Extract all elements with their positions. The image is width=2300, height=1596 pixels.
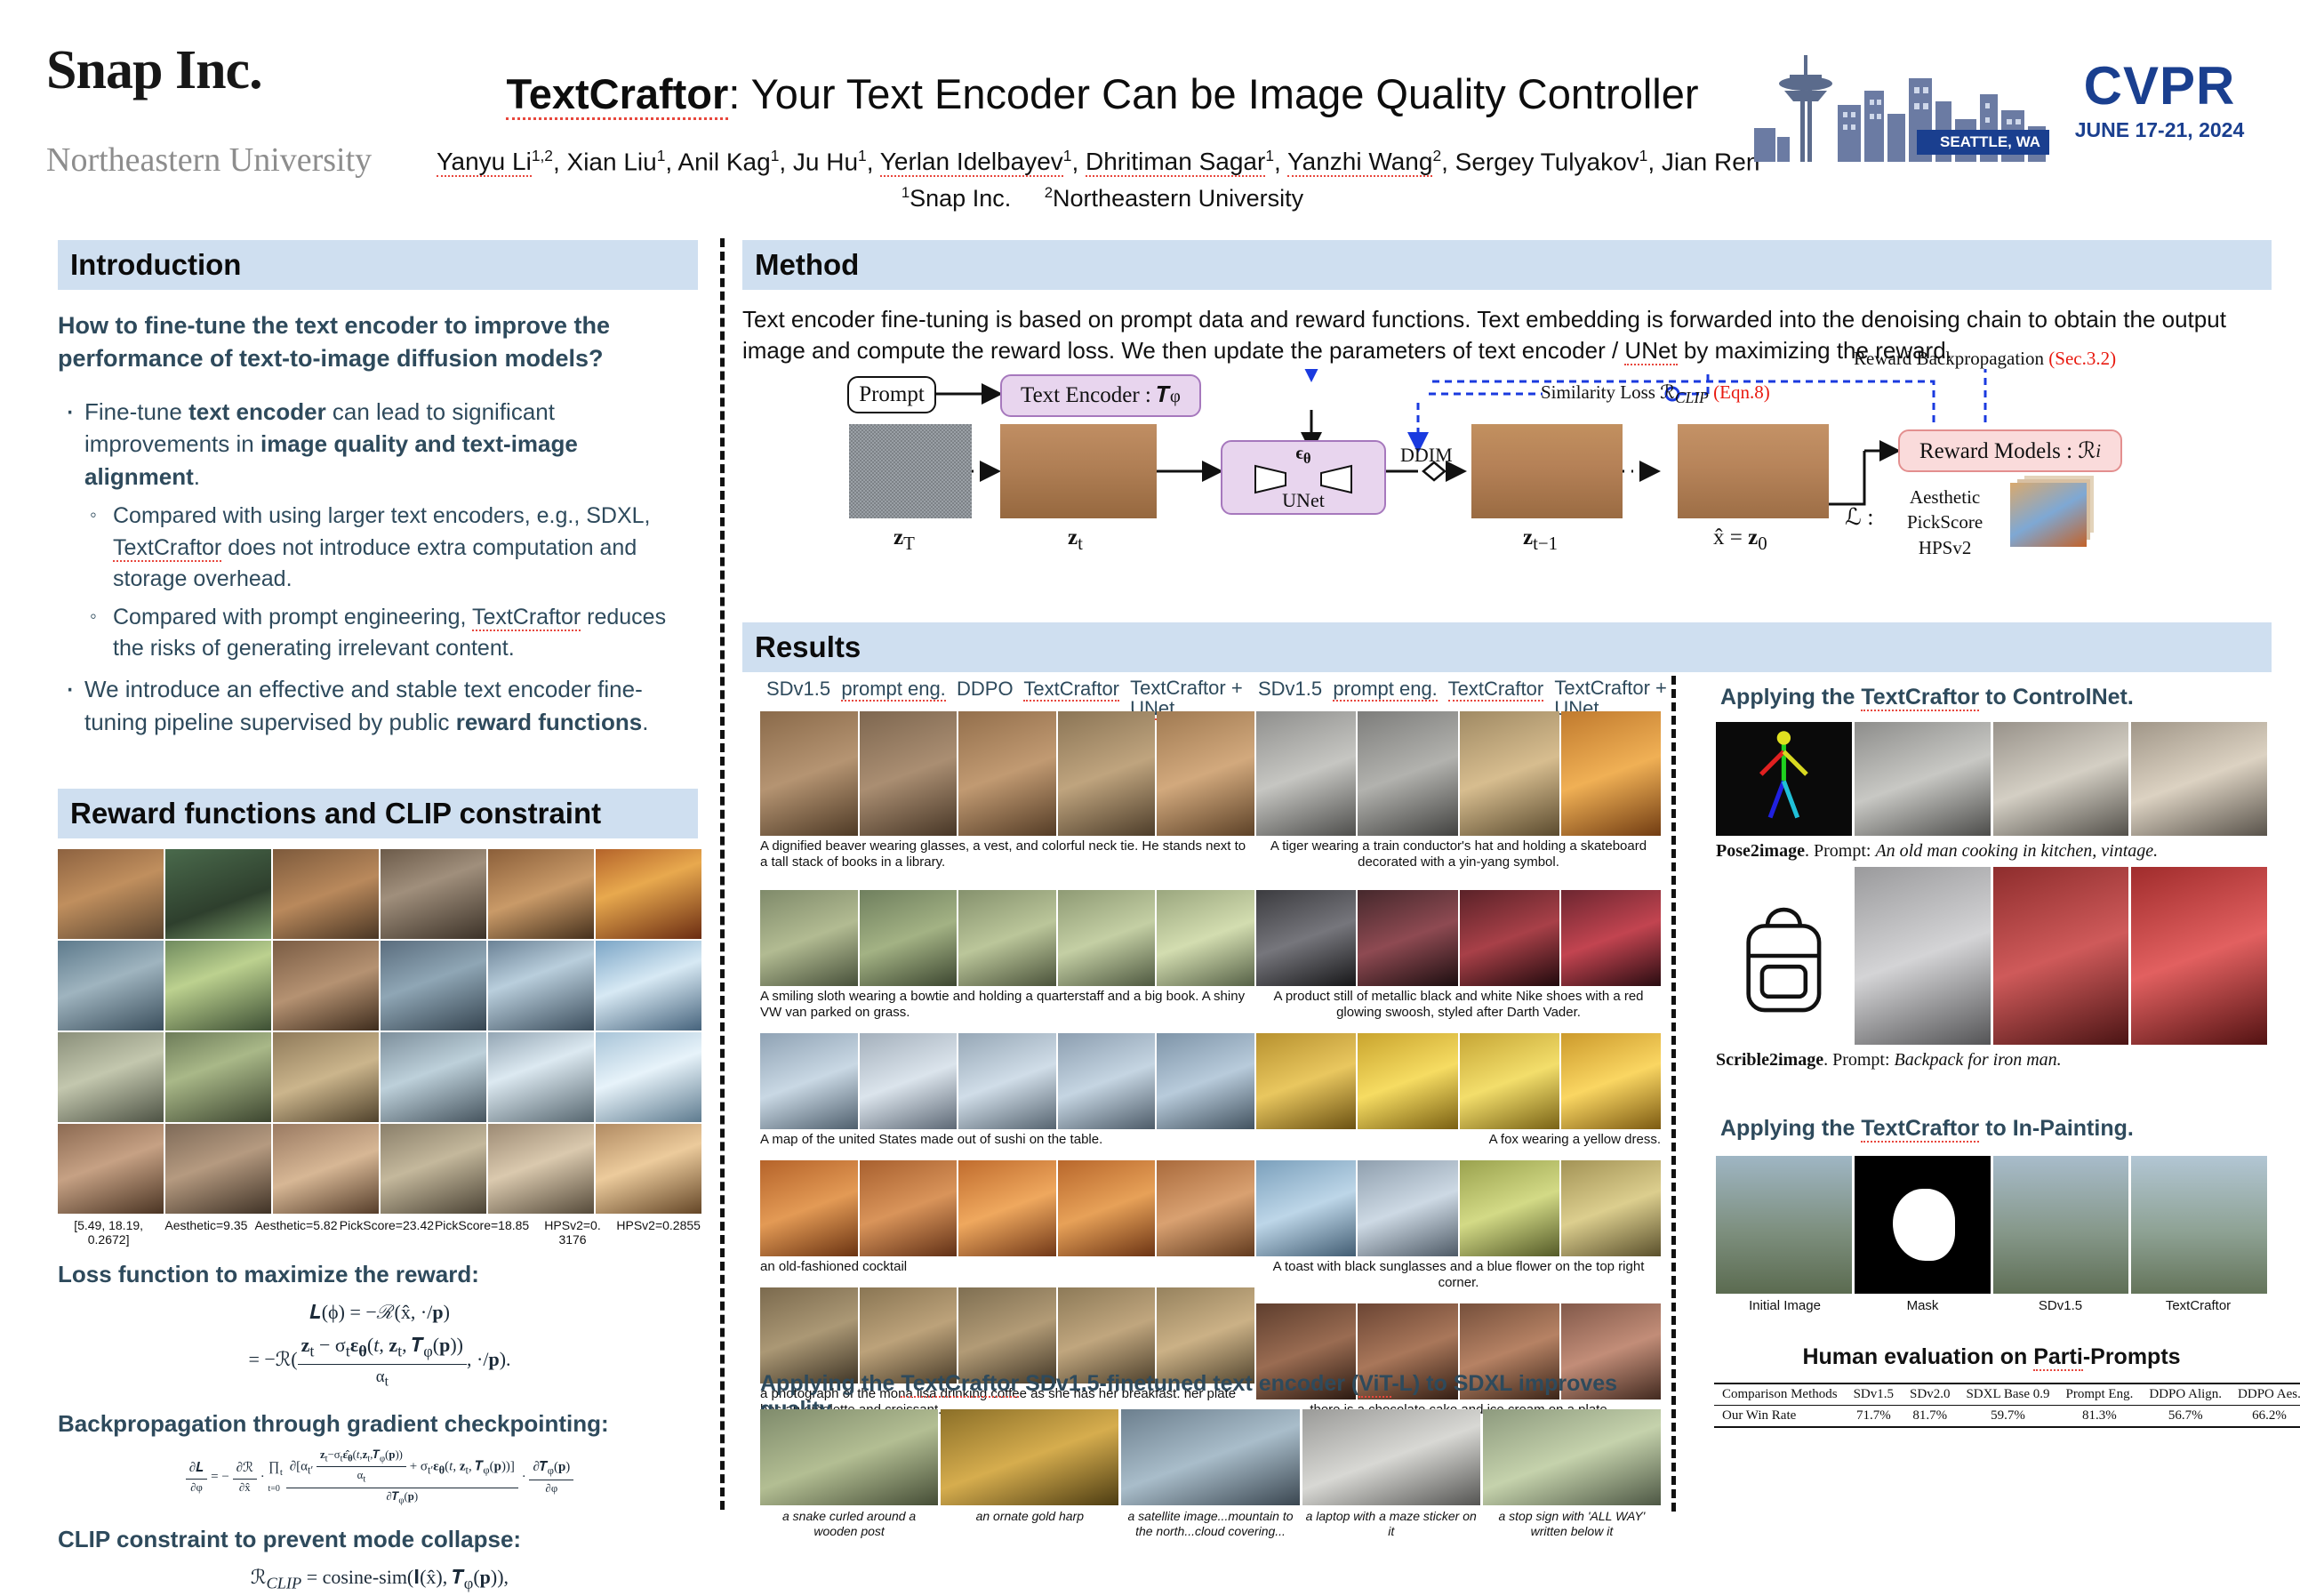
result-image: [1157, 711, 1254, 836]
sdxl-image: [1121, 1409, 1299, 1505]
grid-image: [58, 1032, 164, 1122]
controlnet-apply-heading: Applying the TextCraftor to ControlNet.: [1720, 685, 2254, 710]
th-comparison-methods: Comparison Methods: [1714, 1383, 1846, 1406]
col-prompt-eng-r: prompt eng.: [1333, 678, 1437, 702]
result-image: [1256, 1160, 1356, 1256]
inpaint-mask-image: [1855, 1156, 1991, 1294]
score-label: Aesthetic=9.35: [159, 1218, 252, 1247]
backpack-sketch-icon: [1716, 867, 1852, 1045]
result-image: [1358, 711, 1457, 836]
backprop-heading: Backpropagation through gradient checkpo…: [58, 1410, 701, 1438]
reward-hpsv2: HPSv2: [1907, 535, 1983, 560]
grid-image: [381, 849, 486, 939]
scribble2image-label: Scrible2image. Prompt: Backpack for iron…: [1716, 1050, 2267, 1071]
grid-image: [58, 1124, 164, 1214]
grid-image: [596, 1124, 701, 1214]
cvpr-logo-text: CVPR JUNE 17-21, 2024: [2053, 55, 2266, 142]
result-image: [760, 1287, 858, 1383]
result-image: [958, 1287, 1056, 1383]
grid-image: [596, 1032, 701, 1122]
result-row: [1256, 1160, 1661, 1256]
pose-result-image: [1993, 722, 2129, 836]
denoised-image-1: [1471, 424, 1623, 518]
inpaint-label: Mask: [1854, 1298, 1991, 1313]
ddim-label: DDIM: [1400, 444, 1453, 467]
td-value: 66.2%: [2230, 1406, 2300, 1428]
unet-label: UNet: [1282, 489, 1325, 512]
sdxl-caption: a stop sign with 'ALL WAY' written below…: [1483, 1509, 1661, 1539]
divider-left: [720, 238, 725, 1510]
pose2image-name: Pose2image: [1716, 841, 1805, 861]
result-image: [1358, 1160, 1457, 1256]
th-sdv20: SDv2.0: [1902, 1383, 1958, 1406]
sdxl-caption: a snake curled around a wooden post: [760, 1509, 938, 1539]
pose-skeleton-icon: [1716, 722, 1852, 836]
title-highlight: TextCraftor: [506, 70, 728, 120]
result-image: [1058, 890, 1156, 986]
result-caption: A smiling sloth wearing a bowtie and hol…: [760, 989, 1254, 1021]
latent-zT-label: zT: [894, 525, 915, 555]
pose-skeleton-image: [1716, 722, 1852, 836]
td-value: 81.7%: [1902, 1406, 1958, 1428]
grid-image: [381, 1032, 486, 1122]
sdxl-caption: an ornate gold harp: [941, 1509, 1118, 1539]
td-row-label: Our Win Rate: [1714, 1406, 1846, 1428]
eqn8-ref: (Eqn.8): [1713, 381, 1770, 403]
td-value: 56.7%: [2141, 1406, 2230, 1428]
author-list: Yanyu Li1,2, Xian Liu1, Anil Kag1, Ju Hu…: [382, 147, 1823, 176]
grid-image: [381, 1124, 486, 1214]
result-image: [1058, 1287, 1156, 1383]
score-label: PickScore=23.42: [339, 1218, 434, 1247]
score-label: Aesthetic=5.82: [253, 1218, 340, 1247]
noise-latent-image: [849, 424, 972, 518]
inpainting-labels: Initial Image Mask SDv1.5 TextCraftor: [1716, 1298, 2267, 1313]
sdxl-image: [1483, 1409, 1661, 1505]
td-value: 81.3%: [2058, 1406, 2142, 1428]
grid-image: [488, 1032, 594, 1122]
sub-bullet-item: Compared with prompt engineering, TextCr…: [84, 602, 698, 665]
score-label: HPSv2=0. 3176: [530, 1218, 616, 1247]
latent-zt-label: zt: [1068, 525, 1083, 555]
results-header: Results: [742, 622, 2272, 672]
result-image: [1058, 1033, 1156, 1129]
col-textcraftor: TextCraftor: [1023, 678, 1119, 702]
cvpr-name: CVPR: [2053, 55, 2266, 116]
result-row: [760, 1287, 1254, 1383]
grid-image: [273, 1124, 379, 1214]
inpaint-label: Initial Image: [1716, 1298, 1854, 1313]
result-image: [958, 1033, 1056, 1129]
grid-image: [58, 941, 164, 1031]
xhat-label: x̂ = z0: [1713, 525, 1767, 555]
result-caption: A dignified beaver wearing glasses, a ve…: [760, 838, 1254, 870]
score-label: PickScore=18.85: [435, 1218, 530, 1247]
sdxl-caption: a laptop with a maze sticker on it: [1302, 1509, 1480, 1539]
result-image: [1157, 890, 1254, 986]
result-image: [760, 890, 858, 986]
th-ddpo-align: DDPO Align.: [2141, 1383, 2230, 1406]
th-sdxl-base: SDXL Base 0.9: [1958, 1383, 2057, 1406]
grid-image: [273, 849, 379, 939]
sdxl-image: [760, 1409, 938, 1505]
result-caption: an old-fashioned cocktail: [760, 1259, 1254, 1275]
inpainting-apply-heading: Applying the TextCraftor to In-Painting.: [1720, 1116, 2254, 1142]
method-header: Method: [742, 240, 2272, 290]
inpaint-textcraftor-image: [2131, 1156, 2267, 1294]
result-image: [1256, 711, 1356, 836]
result-row: [760, 1033, 1254, 1129]
result-image: [860, 711, 958, 836]
td-value: 59.7%: [1958, 1406, 2057, 1428]
bullet-item: We introduce an effective and stable tex…: [58, 673, 698, 739]
reward-models-box: Reward Models : ℛi: [1898, 429, 2122, 472]
grid-image: [596, 941, 701, 1031]
introduction-header: Introduction: [58, 240, 698, 290]
result-row: [760, 711, 1254, 836]
grid-image: [273, 1032, 379, 1122]
result-image: [1256, 890, 1356, 986]
poster-root: Snap Inc. Northeastern University TextCr…: [0, 0, 2300, 1534]
poster-header: Snap Inc. Northeastern University TextCr…: [0, 0, 2300, 224]
table-head: Comparison Methods SDv1.5 SDv2.0 SDXL Ba…: [1714, 1383, 2300, 1406]
col-textcraftor-r: TextCraftor: [1448, 678, 1544, 702]
grid-image: [165, 941, 271, 1031]
final-image: [1678, 424, 1829, 518]
inpaint-label: TextCraftor: [2129, 1298, 2267, 1313]
result-caption: A tiger wearing a train conductor's hat …: [1256, 838, 1661, 870]
grid-image: [165, 1032, 271, 1122]
result-caption: A toast with black sunglasses and a blue…: [1256, 1259, 1661, 1291]
inpaint-label: SDv1.5: [1991, 1298, 2129, 1313]
sec32-ref: (Sec.3.2): [2048, 348, 2116, 369]
bullet-item: Fine-tune text encoder can lead to signi…: [58, 396, 698, 665]
col-sdv15: SDv1.5: [766, 678, 830, 700]
clip-heading: CLIP constraint to prevent mode collapse…: [58, 1526, 701, 1553]
result-image: [760, 711, 858, 836]
inpaint-sdv15-image: [1993, 1156, 2129, 1294]
sdxl-image: [941, 1409, 1118, 1505]
loss-equation-expanded: = −ℛ(zt − σtεθ(t, zt, 𝑻φ(p))αt, ·/p).: [58, 1330, 701, 1392]
result-image: [760, 1033, 858, 1129]
reward-section-header: Reward functions and CLIP constraint: [58, 789, 698, 838]
affiliations: 1Snap Inc. 2Northeastern University: [382, 184, 1823, 213]
cvpr-dates: JUNE 17-21, 2024: [2053, 118, 2266, 142]
grid-image: [488, 941, 594, 1031]
similarity-loss-label: Similarity Loss ℛCLIP (Eqn.8): [1541, 381, 1770, 407]
col-prompt-eng: prompt eng.: [841, 678, 945, 702]
results-right-grid: A tiger wearing a train conductor's hat …: [1256, 711, 1661, 1418]
method-diagram: Prompt Text Encoder : 𝑻φ zT zt ϵθ UNet D…: [742, 369, 2272, 627]
result-image: [958, 1160, 1056, 1256]
mask-shape: [1893, 1189, 1955, 1261]
clip-equation: ℛCLIP = cosine-sim(𝐈(x̂), 𝑻φ(p)),: [58, 1562, 701, 1596]
latent-zt-1-label: zt−1: [1523, 525, 1558, 555]
loss-symbol-label: ℒ :: [1845, 504, 1873, 531]
grid-image: [273, 941, 379, 1031]
result-image: [860, 1160, 958, 1256]
pose2image-prompt: Prompt: An old man cooking in kitchen, v…: [1814, 841, 2158, 861]
sdxl-caption: a satellite image...mountain to the nort…: [1121, 1509, 1299, 1539]
left-column: Introduction How to fine-tune the text e…: [58, 240, 698, 838]
th-ddpo-aes: DDPO Aes.: [2230, 1383, 2300, 1406]
result-image: [1561, 1033, 1661, 1129]
scribble2image-prompt: Prompt: Backpack for iron man.: [1832, 1050, 2062, 1070]
result-row: [1256, 890, 1661, 986]
result-image: [1157, 1287, 1254, 1383]
northeastern-logo: Northeastern University: [46, 140, 372, 180]
table-body: Our Win Rate 71.7% 81.7% 59.7% 81.3% 56.…: [1714, 1406, 2300, 1428]
cvpr-location: SEATTLE, WA: [1917, 130, 2049, 155]
result-image: [958, 711, 1056, 836]
introduction-bullets: Fine-tune text encoder can lead to signi…: [58, 396, 698, 739]
page-title: TextCraftor: Your Text Encoder Can be Im…: [382, 69, 1823, 118]
loss-equation: 𝑳(ϕ) = −ℛ(x̂, ·/p): [58, 1297, 701, 1327]
td-value: 71.7%: [1846, 1406, 1902, 1428]
result-image: [1460, 1160, 1559, 1256]
reward-image-grid: [58, 849, 701, 1214]
controlnet-scribble-row: [1716, 867, 2267, 1045]
sdxl-captions: a snake curled around a wooden post an o…: [760, 1509, 1661, 1539]
grid-image: [596, 849, 701, 939]
result-row: [1256, 711, 1661, 836]
grid-image: [381, 941, 486, 1031]
introduction-question: How to fine-tune the text encoder to imp…: [58, 309, 698, 376]
sub-bullet-item: Compared with using larger text encoders…: [84, 501, 698, 596]
result-image: [1058, 711, 1156, 836]
reward-pickscore: PickScore: [1907, 509, 1983, 534]
score-label: [5.49, 18.19, 0.2672]: [58, 1218, 159, 1247]
human-eval-table: Comparison Methods SDv1.5 SDv2.0 SDXL Ba…: [1714, 1383, 2300, 1428]
scribble-result-image: [1993, 867, 2129, 1045]
result-image: [860, 890, 958, 986]
reward-list: Aesthetic PickScore HPSv2: [1907, 485, 1983, 560]
scribble-sketch-image: [1716, 867, 1852, 1045]
title-rest: : Your Text Encoder Can be Image Quality…: [728, 70, 1698, 117]
result-row: [760, 890, 1254, 986]
text-encoder-box: Text Encoder : 𝑻φ: [1000, 374, 1201, 417]
result-image: [1358, 890, 1457, 986]
result-image: [1256, 1033, 1356, 1129]
result-caption: A product still of metallic black and wh…: [1256, 989, 1661, 1021]
grid-image: [165, 1124, 271, 1214]
controlnet-pose-row: [1716, 722, 2267, 836]
result-image: [1561, 890, 1661, 986]
results-column: Results: [742, 622, 2272, 672]
equations-block: Loss function to maximize the reward: 𝑳(…: [58, 1245, 701, 1596]
result-image: [1460, 1033, 1559, 1129]
inpainting-row: [1716, 1156, 2267, 1294]
noisy-astronaut-image: [1000, 424, 1157, 518]
affil-2: Northeastern University: [1053, 185, 1303, 212]
affil-1: Snap Inc.: [910, 185, 1011, 212]
divider-right: [1671, 676, 1676, 1512]
th-prompt-eng: Prompt Eng.: [2058, 1383, 2142, 1406]
result-image: [760, 1160, 858, 1256]
result-image: [1157, 1033, 1254, 1129]
result-image: [1058, 1160, 1156, 1256]
result-image: [1157, 1160, 1254, 1256]
result-image: [958, 890, 1056, 986]
result-caption: A fox wearing a yellow dress.: [1256, 1132, 1661, 1148]
cvpr-badge: CVPR JUNE 17-21, 2024 SEATTLE, WA: [1749, 25, 2282, 176]
col-ddpo: DDPO: [957, 678, 1014, 700]
scribble2image-name: Scrible2image: [1716, 1050, 1823, 1070]
table-row: Our Win Rate 71.7% 81.7% 59.7% 81.3% 56.…: [1714, 1406, 2300, 1428]
score-label: HPSv2=0.2855: [615, 1218, 701, 1247]
scribble-result-image: [2131, 867, 2267, 1045]
col-sdv15-r: SDv1.5: [1258, 678, 1322, 700]
result-image: [1460, 711, 1559, 836]
results-left-grid: A dignified beaver wearing glasses, a ve…: [760, 711, 1254, 1418]
result-image: [1561, 711, 1661, 836]
reward-score-labels: [5.49, 18.19, 0.2672] Aesthetic=9.35 Aes…: [58, 1218, 701, 1247]
grid-image: [488, 849, 594, 939]
th-sdv15: SDv1.5: [1846, 1383, 1902, 1406]
sdxl-image: [1302, 1409, 1480, 1505]
result-row: [1256, 1033, 1661, 1129]
result-image: [860, 1287, 958, 1383]
sub-bullets: Compared with using larger text encoders…: [84, 501, 698, 665]
reward-aesthetic: Aesthetic: [1907, 485, 1983, 509]
backprop-equation: ∂𝑳∂φ = − ∂ℛ∂x̂ · ∏t=0t ∂[αt′ zt−σtε̂θ(t,…: [58, 1447, 701, 1508]
unet-box: ϵθ UNet: [1221, 440, 1386, 515]
pose2image-label: Pose2image. Prompt: An old man cooking i…: [1716, 841, 2267, 862]
prompt-box: Prompt: [847, 376, 936, 413]
result-image: [860, 1033, 958, 1129]
table-header-row: Comparison Methods SDv1.5 SDv2.0 SDXL Ba…: [1714, 1383, 2300, 1406]
loss-heading: Loss function to maximize the reward:: [58, 1261, 701, 1288]
snap-logo: Snap Inc.: [46, 39, 262, 102]
scribble-result-image: [1855, 867, 1991, 1045]
reward-backprop-label: Reward Backpropagation (Sec.3.2): [1854, 348, 2116, 370]
inpaint-initial-image: [1716, 1156, 1852, 1294]
grid-image: [58, 849, 164, 939]
pose-result-image: [1855, 722, 1991, 836]
reward-sample-images: [2010, 483, 2087, 547]
pose-result-image: [2131, 722, 2267, 836]
result-row: [760, 1160, 1254, 1256]
grid-image: [165, 849, 271, 939]
result-image: [1358, 1033, 1457, 1129]
sdxl-results-grid: [760, 1409, 1661, 1505]
result-image: [1460, 890, 1559, 986]
grid-image: [488, 1124, 594, 1214]
result-caption: A map of the united States made out of s…: [760, 1132, 1254, 1148]
result-image: [1561, 1160, 1661, 1256]
human-eval-title: Human evaluation on Parti-Prompts: [1716, 1344, 2267, 1370]
